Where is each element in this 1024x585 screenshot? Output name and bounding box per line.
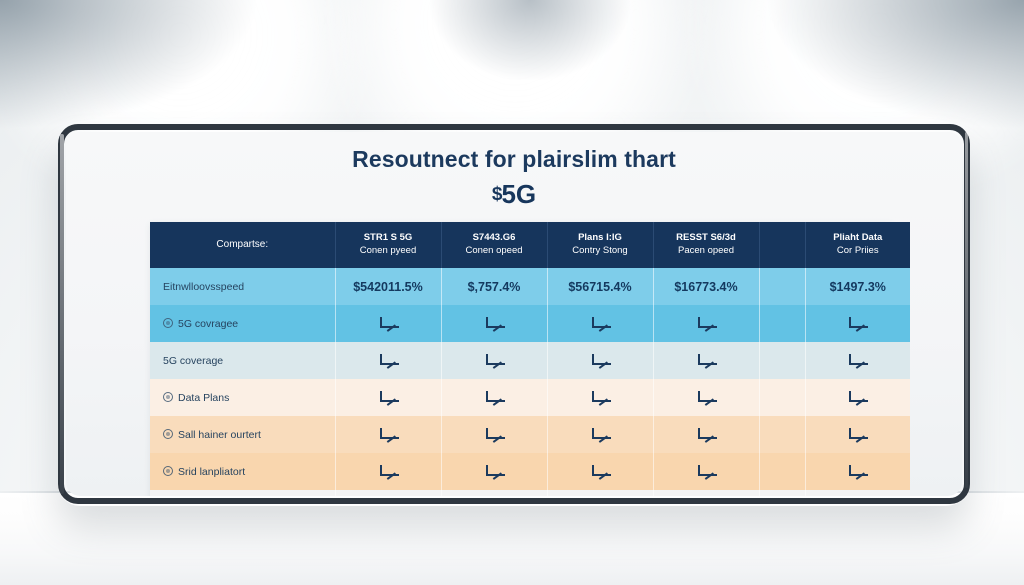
device-bezel [58, 124, 970, 504]
bezel-highlight-left [60, 134, 64, 494]
bezel-highlight-right [965, 132, 968, 488]
studio-scene: Resoutnect for plairslim thart $5G Compa… [0, 0, 1024, 585]
corner-shade-right [764, 0, 1024, 130]
corner-shade-left [0, 0, 260, 130]
corner-shade-mid [430, 0, 630, 80]
tabletop-surface [0, 493, 1024, 585]
